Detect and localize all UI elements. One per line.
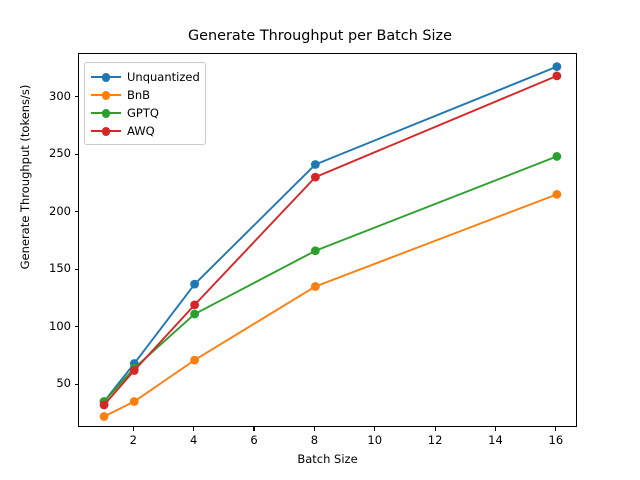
- y-tick-label: 50: [26, 376, 71, 390]
- x-tick-label: 10: [355, 433, 395, 447]
- data-point-marker: [190, 356, 199, 365]
- legend-dot-icon: [102, 73, 110, 81]
- legend-item-label: BnB: [127, 88, 150, 102]
- data-point-marker: [552, 62, 561, 71]
- data-point-marker: [552, 152, 561, 161]
- x-axis-label: Batch Size: [78, 452, 577, 466]
- data-point-marker: [100, 412, 109, 421]
- legend-dot-icon: [102, 109, 110, 117]
- x-tick-label: 8: [294, 433, 334, 447]
- series-line: [104, 156, 557, 401]
- data-point-marker: [190, 280, 199, 289]
- x-tick-label: 4: [174, 433, 214, 447]
- x-tick-label: 6: [234, 433, 274, 447]
- legend-item-unquantized[interactable]: Unquantized: [91, 68, 199, 86]
- legend-item-gptq[interactable]: GPTQ: [91, 104, 199, 122]
- x-tick-label: 12: [415, 433, 455, 447]
- legend-item-awq[interactable]: AWQ: [91, 122, 199, 140]
- y-tick-label: 200: [26, 204, 71, 218]
- legend-dot-icon: [102, 127, 110, 135]
- series-bnb: [100, 190, 562, 421]
- data-point-marker: [552, 71, 561, 80]
- legend-marker-icon: [91, 106, 121, 120]
- data-point-marker: [311, 160, 320, 169]
- y-axis-label: Generate Throughput (tokens/s): [18, 27, 32, 327]
- data-point-marker: [130, 397, 139, 406]
- series-line: [104, 194, 557, 416]
- data-point-marker: [552, 190, 561, 199]
- data-point-marker: [311, 282, 320, 291]
- series-gptq: [100, 152, 562, 406]
- matplotlib-figure: Generate Throughput per Batch Size Gener…: [0, 0, 640, 480]
- legend: UnquantizedBnBGPTQAWQ: [84, 62, 206, 145]
- legend-marker-icon: [91, 124, 121, 138]
- data-point-marker: [311, 246, 320, 255]
- legend-item-label: Unquantized: [127, 70, 200, 84]
- legend-item-label: GPTQ: [127, 106, 159, 120]
- x-tick-label: 14: [475, 433, 515, 447]
- legend-marker-icon: [91, 70, 121, 84]
- y-tick-label: 100: [26, 319, 71, 333]
- legend-marker-icon: [91, 88, 121, 102]
- data-point-marker: [190, 310, 199, 319]
- y-tick-label: 250: [26, 146, 71, 160]
- data-point-marker: [190, 300, 199, 309]
- page-title: Generate Throughput per Batch Size: [0, 28, 640, 44]
- legend-dot-icon: [102, 91, 110, 99]
- legend-item-bnb[interactable]: BnB: [91, 86, 199, 104]
- y-tick-label: 300: [26, 89, 71, 103]
- y-tick-label: 150: [26, 261, 71, 275]
- legend-item-label: AWQ: [127, 124, 155, 138]
- x-tick-label: 2: [113, 433, 153, 447]
- data-point-marker: [311, 173, 320, 182]
- x-tick-label: 16: [536, 433, 576, 447]
- data-point-marker: [130, 366, 139, 375]
- data-point-marker: [100, 401, 109, 410]
